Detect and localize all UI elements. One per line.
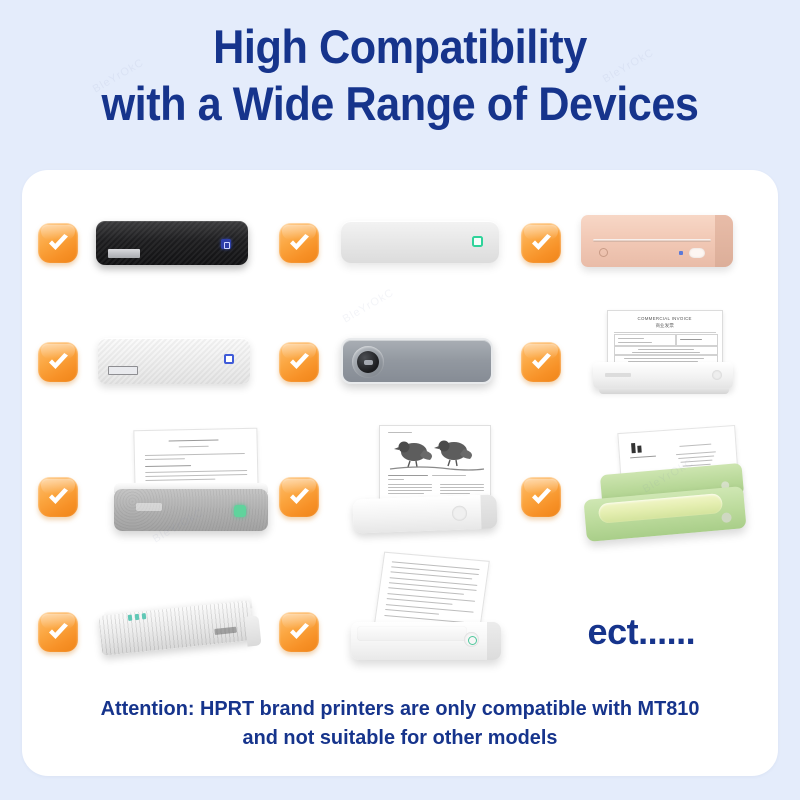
printed-document	[379, 425, 491, 503]
power-button-icon	[224, 354, 234, 364]
device-invoice-printer: COMMERCIAL INVOICE 商业发票	[571, 316, 762, 408]
list-item	[38, 586, 279, 678]
printer-end-cap	[481, 494, 498, 529]
check-icon	[38, 612, 78, 652]
bluetooth-indicator-icon	[679, 251, 683, 255]
doc-logo-icon	[629, 440, 646, 455]
invoice-title: COMMERCIAL INVOICE	[608, 316, 722, 321]
list-item	[279, 586, 520, 678]
attention-line-2: and not suitable for other models	[33, 723, 766, 752]
attention-line-1: Attention: HPRT brand printers are only …	[33, 694, 766, 723]
device-black-carbon-printer	[88, 197, 279, 289]
check-icon	[38, 342, 78, 382]
check-icon	[521, 342, 561, 382]
check-icon	[38, 477, 78, 517]
power-button-icon	[721, 512, 732, 523]
printer-body	[353, 494, 498, 533]
brand-label	[136, 503, 162, 511]
device-silver-ribbed-printer	[88, 586, 279, 678]
device-grey-fabric-printer	[88, 451, 279, 543]
etc-label: ect......	[588, 611, 696, 653]
bird-illustration	[380, 436, 492, 474]
check-icon	[279, 223, 319, 263]
check-icon	[521, 477, 561, 517]
page-title: High Compatibility with a Wide Range of …	[0, 18, 800, 132]
compatibility-card: COMMERCIAL INVOICE 商业发票	[22, 170, 778, 776]
list-item	[279, 451, 520, 543]
device-bird-document-printer	[329, 451, 520, 543]
lens-icon	[357, 351, 379, 373]
paper-slot	[593, 239, 711, 242]
brand-logo-icon	[599, 248, 608, 257]
list-item	[521, 197, 762, 289]
list-item	[279, 316, 520, 408]
table-row	[38, 184, 762, 302]
device-green-printer-pair	[571, 451, 762, 543]
device-pink-printer	[571, 197, 762, 289]
check-icon	[279, 612, 319, 652]
list-item	[38, 451, 279, 543]
lens-glint	[364, 360, 373, 365]
invoice-document: COMMERCIAL INVOICE 商业发票	[607, 310, 723, 367]
brand-label	[108, 366, 138, 375]
title-line-1: High Compatibility	[32, 18, 768, 75]
power-button-icon	[464, 632, 479, 647]
device-white-text-document-printer	[329, 586, 520, 678]
brand-label	[214, 627, 237, 635]
table-row	[38, 422, 762, 572]
printer-side-panel	[715, 215, 733, 267]
power-button-icon	[689, 248, 705, 258]
printer-body	[351, 622, 501, 660]
status-indicator-icon	[472, 236, 483, 247]
list-item	[521, 451, 762, 543]
list-item	[38, 316, 279, 408]
list-item	[38, 197, 279, 289]
printer-body	[593, 362, 733, 389]
table-row: ect......	[38, 572, 762, 692]
lens-ring-icon	[352, 346, 384, 378]
printer-end-cap	[244, 615, 261, 646]
check-icon	[521, 223, 561, 263]
power-button-icon	[221, 239, 231, 249]
printer-base	[599, 388, 729, 394]
list-item: ect......	[521, 611, 762, 653]
device-grey-lens-printer	[329, 316, 520, 408]
check-icon	[279, 477, 319, 517]
check-icon	[38, 223, 78, 263]
table-row: COMMERCIAL INVOICE 商业发票	[38, 302, 762, 422]
device-light-grey-printer	[329, 197, 520, 289]
title-line-2: with a Wide Range of Devices	[32, 75, 768, 132]
brand-label	[108, 249, 140, 258]
compatibility-grid: COMMERCIAL INVOICE 商业发票	[22, 170, 778, 692]
printer-body	[114, 489, 268, 531]
attention-note: Attention: HPRT brand printers are only …	[33, 694, 766, 752]
power-button-icon	[452, 506, 468, 522]
power-button-icon	[712, 370, 722, 380]
printer-end-cap	[487, 622, 501, 660]
status-indicator-icon	[234, 505, 246, 517]
printer-lid	[357, 626, 467, 641]
brand-label	[605, 373, 631, 377]
paper-roll	[598, 493, 723, 524]
list-item: COMMERCIAL INVOICE 商业发票	[521, 316, 762, 408]
list-item	[279, 197, 520, 289]
check-icon	[279, 342, 319, 382]
invoice-subtitle: 商业发票	[608, 323, 722, 329]
printed-document	[375, 552, 491, 633]
device-white-carbon-printer	[88, 316, 279, 408]
